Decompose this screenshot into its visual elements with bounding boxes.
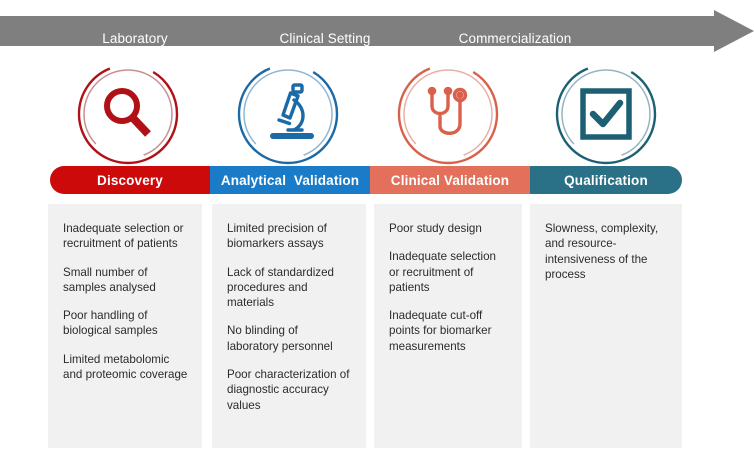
stage-label-analytical-validation[interactable]: Analytical Validation [210, 166, 370, 194]
list-item: Inadequate selection or recruitment of p… [63, 221, 188, 252]
panel-analytical-validation: Limited precision of biomarkers assays L… [212, 204, 366, 448]
list-item: Poor study design [389, 221, 508, 236]
stage-icon-clinical-validation [392, 58, 504, 170]
list-item: Limited metabolomic and proteomic covera… [63, 352, 188, 383]
phase-label-clinical-setting: Clinical Setting [280, 31, 371, 46]
panel-discovery: Inadequate selection or recruitment of p… [48, 204, 202, 448]
stage-label-bar: Discovery Analytical Validation Clinical… [50, 166, 682, 194]
infographic-root: Laboratory Clinical Setting Commercializ… [0, 0, 754, 453]
list-item: Inadequate selection or recruitment of p… [389, 249, 508, 295]
stethoscope-icon [429, 88, 465, 133]
inner-ring-arc [404, 70, 492, 158]
stage-label-qualification[interactable]: Qualification [530, 166, 682, 194]
stage-icon-qualification [550, 58, 662, 170]
inner-ring-arc [84, 70, 172, 158]
stage-label-discovery[interactable]: Discovery [50, 166, 210, 194]
phase-label-laboratory: Laboratory [102, 31, 168, 46]
list-item: Poor handling of biological samples [63, 308, 188, 339]
list-item: Inadequate cut-off points for biomarker … [389, 308, 508, 354]
panel-clinical-validation: Poor study design Inadequate selection o… [374, 204, 522, 448]
list-item: Slowness, complexity, and resource-inten… [545, 221, 668, 282]
phase-label-commercialization: Commercialization [459, 31, 572, 46]
outer-ring-arc [79, 65, 177, 163]
checkbox-check-icon [583, 91, 629, 137]
stage-icon-analytical-validation [232, 58, 344, 170]
stage-label-clinical-validation[interactable]: Clinical Validation [370, 166, 530, 194]
list-item: Poor characterization of diagnostic accu… [227, 367, 352, 413]
list-item: Small number of samples analysed [63, 265, 188, 296]
stage-icon-discovery [72, 58, 184, 170]
inner-ring-arc [244, 70, 332, 158]
inner-ring-arc [562, 70, 650, 158]
pipeline-arrow-banner: Laboratory Clinical Setting Commercializ… [0, 10, 754, 52]
microscope-icon [273, 85, 311, 136]
outer-ring-arc [399, 65, 497, 163]
list-item: Lack of standardized procedures and mate… [227, 265, 352, 311]
list-item: No blinding of laboratory personnel [227, 323, 352, 354]
outer-ring-arc [557, 65, 655, 163]
panel-qualification: Slowness, complexity, and resource-inten… [530, 204, 682, 448]
list-item: Limited precision of biomarkers assays [227, 221, 352, 252]
outer-ring-arc [239, 65, 337, 163]
magnifying-glass-icon [107, 91, 148, 134]
